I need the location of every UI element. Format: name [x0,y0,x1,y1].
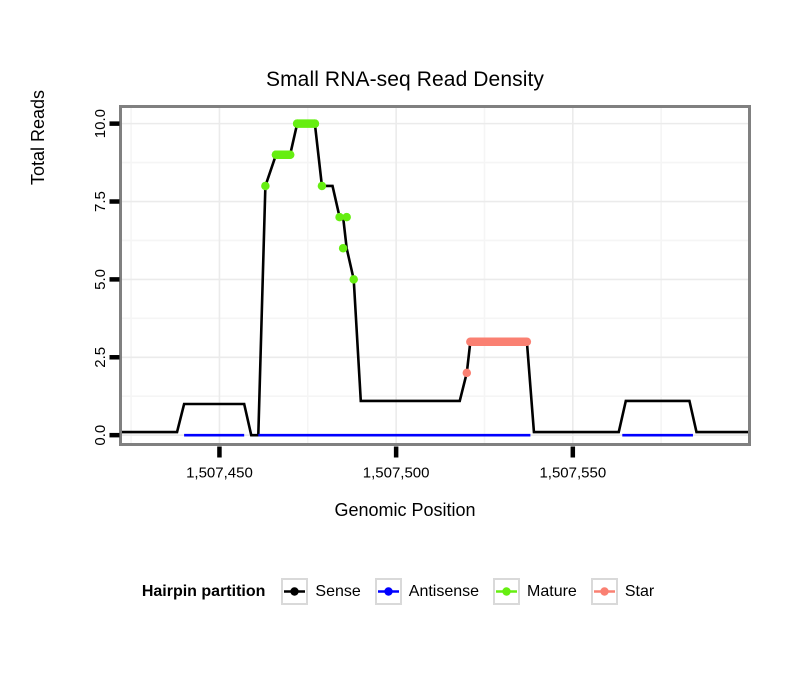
legend-point-icon [377,580,400,603]
legend-entry-antisense[interactable]: Antisense [375,578,479,605]
y-tick-label: 0.0 [92,425,109,446]
legend-label: Mature [527,583,577,601]
legend-label: Antisense [409,583,479,601]
legend-entry-list: SenseAntisenseMatureStar [281,578,668,605]
y-tick-label: 2.5 [92,347,109,368]
chart-root: Small RNA-seq Read Density Total Reads 0… [0,0,810,690]
data-point-star [463,369,472,378]
x-tick-label: 1,507,500 [363,465,430,482]
legend-label: Star [625,583,654,601]
x-axis-title: Genomic Position [0,500,810,521]
data-point-mature [342,213,351,222]
legend-point-icon [495,580,518,603]
legend-key-star [591,578,618,605]
data-point-mature [286,151,295,160]
x-tick-label: 1,507,450 [186,465,253,482]
legend-key-sense [281,578,308,605]
grid-minor-layer [121,107,750,445]
data-point-mature [349,275,358,284]
y-tick-label: 7.5 [92,191,109,212]
data-point-mature [311,119,320,128]
legend-label: Sense [315,583,360,601]
x-tick-label: 1,507,550 [539,465,606,482]
legend-entry-mature[interactable]: Mature [493,578,577,605]
legend-entry-sense[interactable]: Sense [281,578,360,605]
legend-title: Hairpin partition [142,583,266,601]
legend-key-antisense [375,578,402,605]
y-tick-label: 10.0 [92,109,109,138]
data-point-mature [293,119,302,128]
legend-point-icon [593,580,616,603]
legend-key-mature [493,578,520,605]
data-point-mature [272,151,281,160]
chart-legend: Hairpin partition SenseAntisenseMatureSt… [0,578,810,605]
data-point-mature [318,182,327,191]
legend-entry-star[interactable]: Star [591,578,654,605]
y-tick-label: 5.0 [92,269,109,290]
data-point-mature [261,182,270,191]
data-point-mature [339,244,348,253]
legend-point-icon [283,580,306,603]
